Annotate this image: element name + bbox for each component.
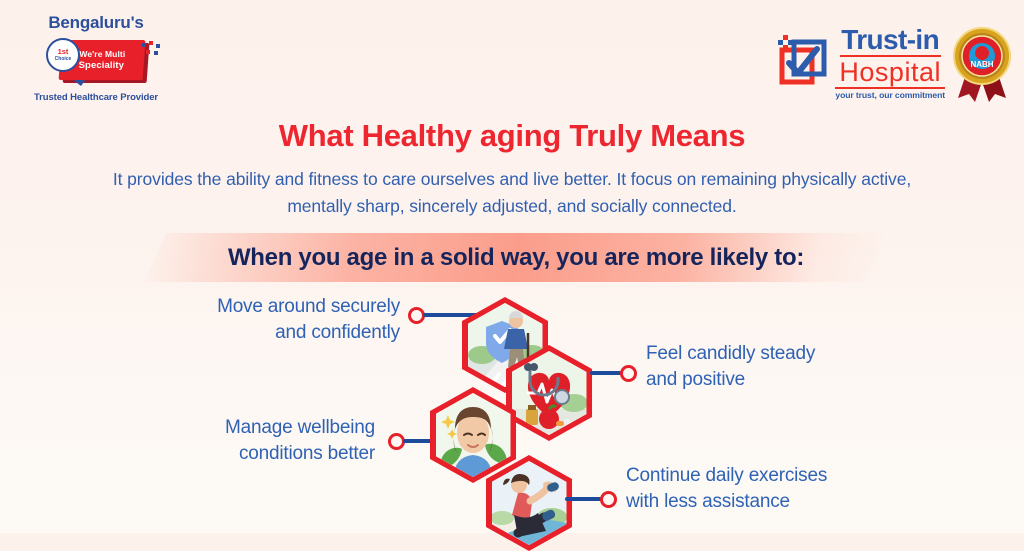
connector-dot-4 xyxy=(600,491,617,508)
benefit-label-2: Feel candidly steady and positive xyxy=(646,341,926,393)
accreditation-medal-icon: NABH xyxy=(952,24,1012,102)
logo-tagline: your trust, our commitment xyxy=(835,91,945,100)
checkbox-check-icon xyxy=(774,34,828,92)
benefit-icon-hex-4 xyxy=(486,455,572,551)
badge-line-1: We're Multi xyxy=(79,49,125,60)
bengaluru-first-choice-badge: Bengaluru's We're Multi Speciality 1st C… xyxy=(16,14,176,109)
badge-rank: 1st xyxy=(58,48,69,56)
first-choice-seal-icon: 1st Choice xyxy=(46,38,80,72)
woman-wellness-leaves-icon xyxy=(436,393,511,477)
badge-tagline: Trusted Healthcare Provider xyxy=(16,92,176,103)
benefit-label-4-line1: Continue daily exercises xyxy=(626,463,926,489)
badge-graphic: We're Multi Speciality 1st Choice xyxy=(38,38,158,86)
woman-exercising-yoga-mat-icon xyxy=(492,461,567,545)
benefit-label-4: Continue daily exercises with less assis… xyxy=(626,463,926,515)
decorative-dots-icon xyxy=(142,41,164,57)
benefit-label-3-line2: conditions better xyxy=(120,441,375,467)
benefit-label-1-line1: Move around securely xyxy=(130,294,400,320)
hospital-logo: Trust-in Hospital your trust, our commit… xyxy=(774,22,1012,104)
badge-rank-sub: Choice xyxy=(55,56,72,62)
connector-dot-2 xyxy=(620,365,637,382)
benefit-icon-hex-3 xyxy=(430,387,516,483)
logo-name-primary: Trust-in xyxy=(841,26,939,54)
badge-line-2: Speciality xyxy=(79,60,124,71)
infographic-canvas: Bengaluru's We're Multi Speciality 1st C… xyxy=(0,0,1024,533)
logo-underline-2 xyxy=(835,87,945,89)
benefit-label-3-line1: Manage wellbeing xyxy=(120,415,375,441)
badge-pointer xyxy=(72,79,86,86)
section-heading: When you age in a solid way, you are mor… xyxy=(144,233,888,282)
badge-city-label: Bengaluru's xyxy=(16,14,176,31)
seal-label: NABH xyxy=(970,60,993,69)
benefit-label-3: Manage wellbeing conditions better xyxy=(120,415,375,467)
logo-name-secondary: Hospital xyxy=(839,59,941,86)
heart-stethoscope-icon xyxy=(512,351,587,435)
benefit-label-2-line2: and positive xyxy=(646,367,926,393)
page-title: What Healthy aging Truly Means xyxy=(0,118,1024,154)
intro-paragraph: It provides the ability and fitness to c… xyxy=(97,166,927,220)
benefit-label-1: Move around securely and confidently xyxy=(130,294,400,346)
benefit-label-1-line2: and confidently xyxy=(130,320,400,346)
benefit-label-4-line2: with less assistance xyxy=(626,489,926,515)
benefit-label-2-line1: Feel candidly steady xyxy=(646,341,926,367)
hospital-logo-text: Trust-in Hospital your trust, our commit… xyxy=(835,26,945,99)
